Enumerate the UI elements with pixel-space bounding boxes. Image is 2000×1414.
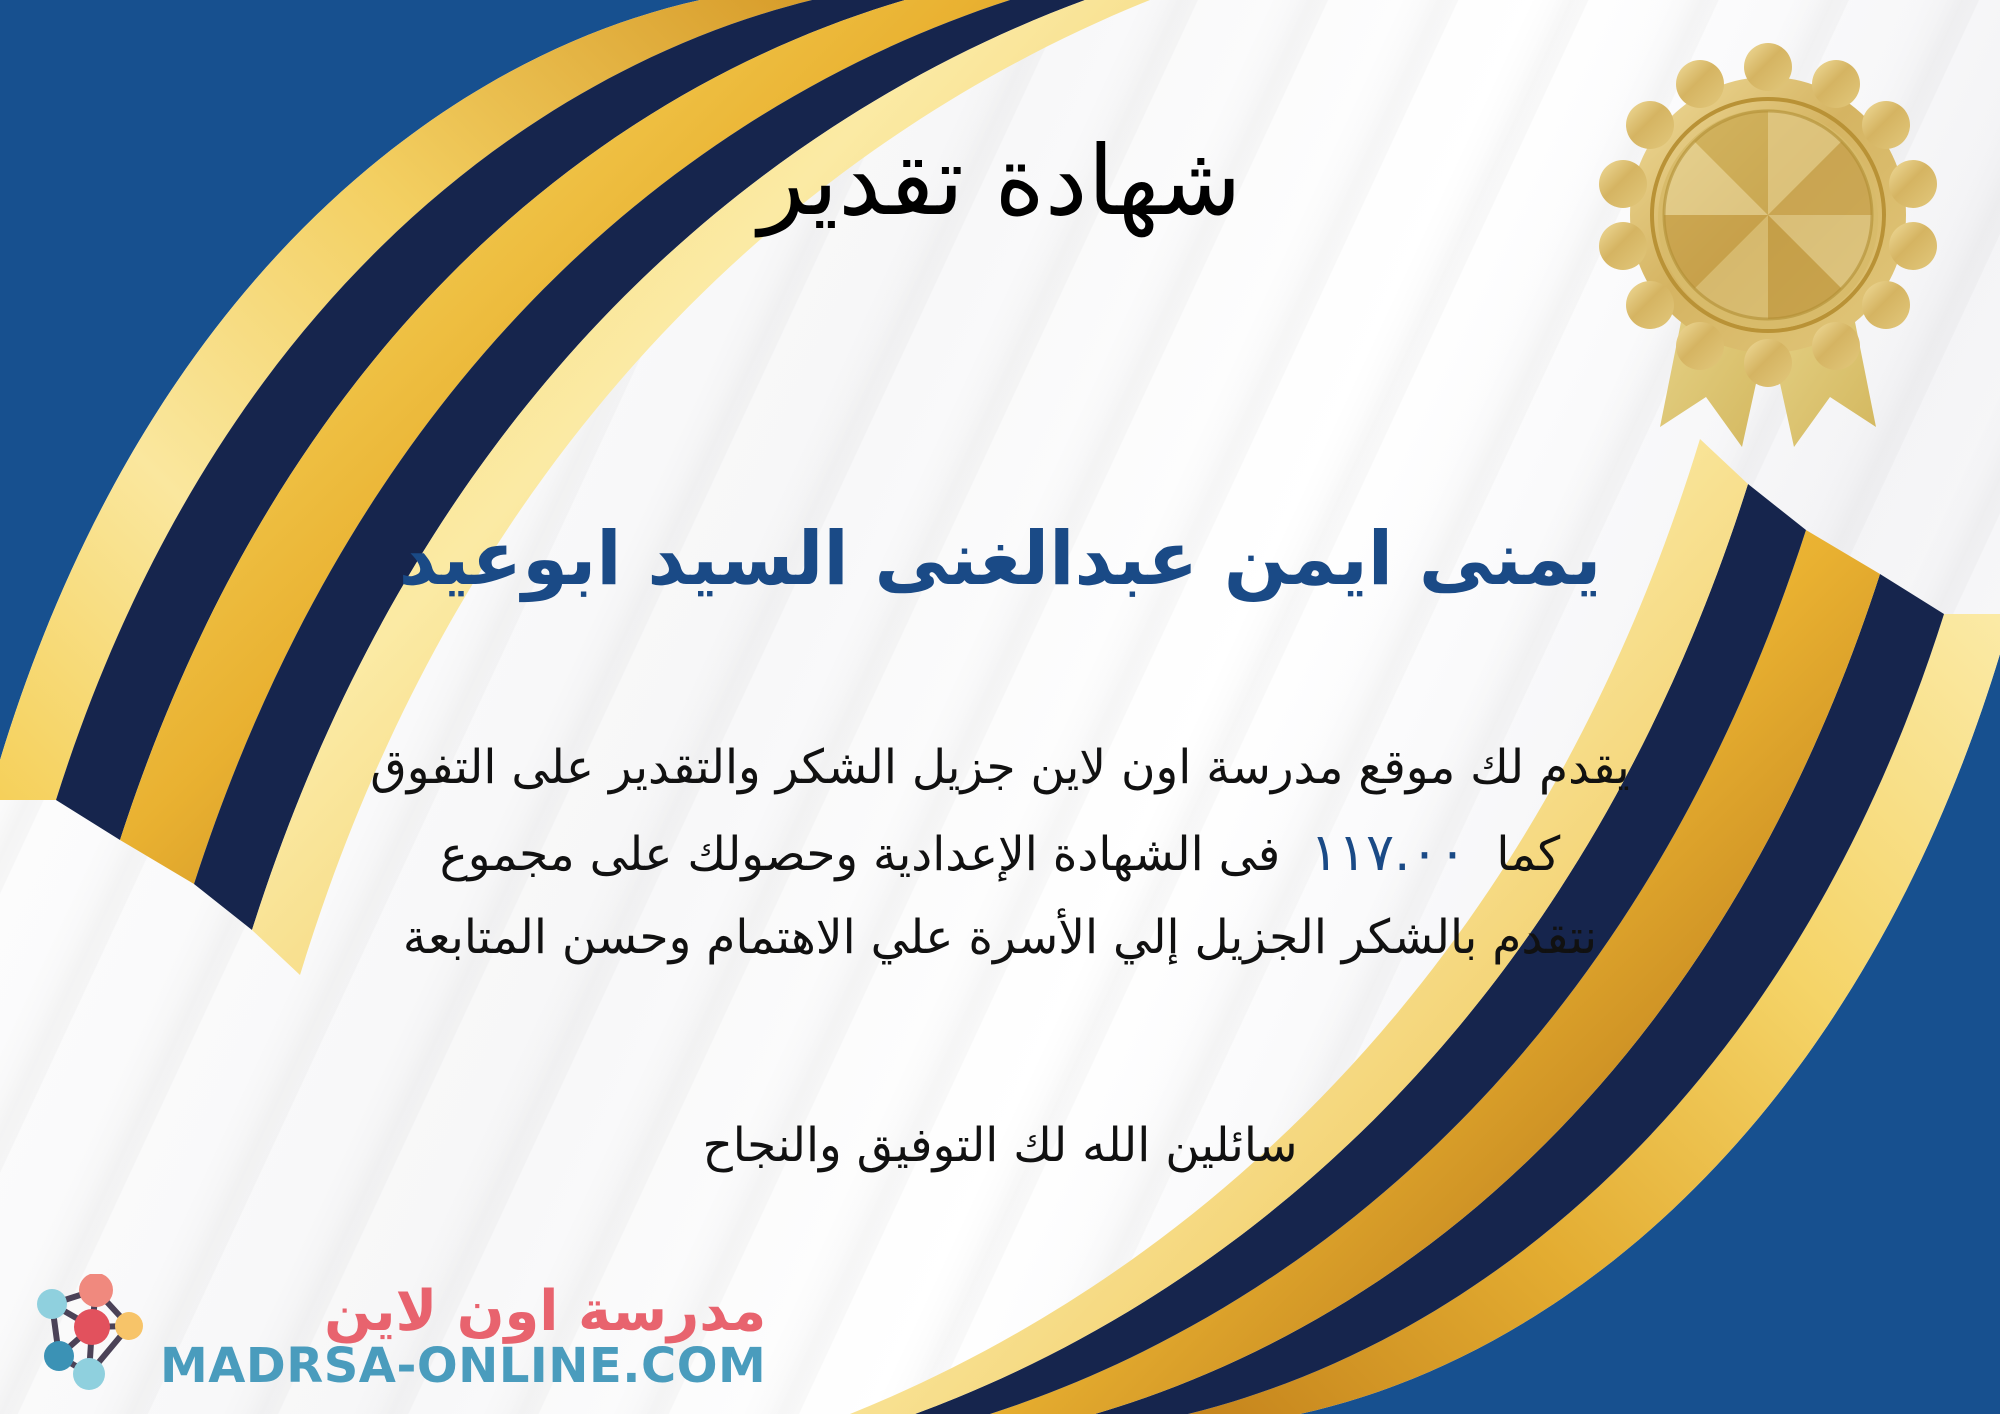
logo-text: مدرسة اون لاين MADRSA-ONLINE.COM — [160, 1284, 766, 1390]
body-line-3: نتقدم بالشكر الجزيل إلي الأسرة علي الاهت… — [55, 898, 1945, 979]
logo-arabic-name: مدرسة اون لاين — [324, 1284, 766, 1340]
certificate-content: شهادة تقدير يمنى ايمن عبدالغنى السيد ابو… — [0, 0, 2000, 1414]
closing-line: سائلين الله لك التوفيق والنجاح — [0, 1108, 2000, 1183]
score-value: ١١٧.٠٠ — [1280, 823, 1496, 883]
certificate-card: شهادة تقدير يمنى ايمن عبدالغنى السيد ابو… — [0, 0, 2000, 1414]
certificate-body: يقدم لك موقع مدرسة اون لاين جزيل الشكر و… — [55, 728, 1945, 979]
body-line-2-prefix: كما — [1496, 827, 1560, 882]
body-line-2: كما١١٧.٠٠فى الشهادة الإعدادية وحصولك على… — [55, 809, 1945, 898]
body-line-1: يقدم لك موقع مدرسة اون لاين جزيل الشكر و… — [55, 728, 1945, 809]
body-line-2-suffix: فى الشهادة الإعدادية وحصولك على مجموع — [440, 827, 1281, 882]
recipient-name: يمنى ايمن عبدالغنى السيد ابوعيد — [0, 516, 2000, 603]
logo-website: MADRSA-ONLINE.COM — [160, 1342, 766, 1390]
page-title: شهادة تقدير — [0, 128, 2000, 236]
network-nodes-icon — [22, 1274, 150, 1400]
site-logo[interactable]: مدرسة اون لاين MADRSA-ONLINE.COM — [22, 1274, 766, 1400]
